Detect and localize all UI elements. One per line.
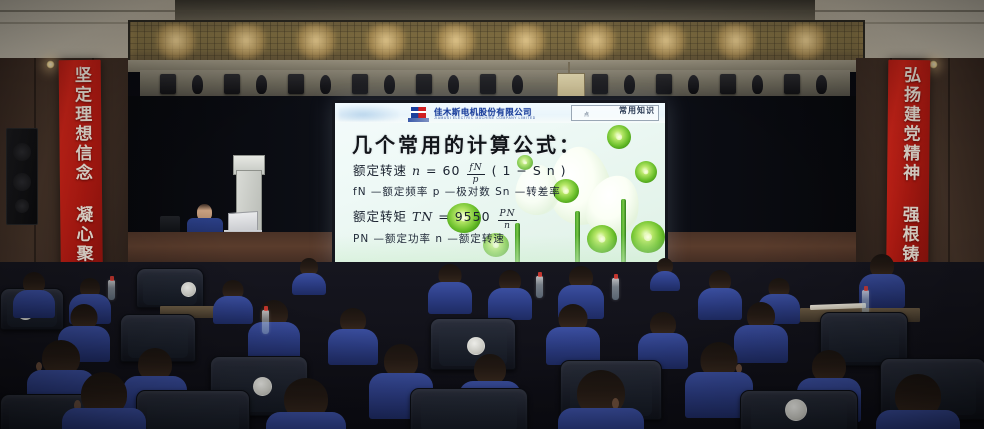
auditorium-seat — [740, 390, 858, 429]
audience-member — [650, 258, 680, 290]
corner-knowledge-label: 常用知识 — [619, 105, 655, 116]
formula-1-eq: = — [426, 163, 437, 178]
auditorium-seat — [136, 268, 204, 308]
seat-number-badge — [785, 399, 807, 421]
stage-light — [720, 74, 736, 94]
stage-light — [688, 75, 699, 94]
audience-member — [548, 304, 598, 360]
water-bottle — [536, 276, 543, 298]
formula-row-1: 额定转速 n = 60 fN p ( 1 − S n ) — [353, 160, 567, 185]
downlight — [46, 60, 55, 69]
audience-member — [14, 272, 54, 312]
cloud-watermark — [339, 105, 399, 121]
stage-light — [256, 75, 267, 94]
audience-member — [880, 374, 956, 429]
seat-number-badge — [181, 282, 196, 297]
stage-light — [480, 74, 496, 94]
auditorium-seat — [410, 388, 528, 429]
stage-light — [512, 75, 523, 94]
stage-light — [320, 75, 331, 94]
formula-1-numerator: fN — [467, 164, 484, 173]
formula-1-fraction: fN p — [467, 164, 484, 185]
audience-member — [270, 378, 342, 429]
audience-member — [490, 270, 530, 314]
chrysanthemum-decoration — [635, 161, 657, 183]
formula-2-denominator: n — [498, 222, 518, 231]
audience-member — [292, 258, 326, 292]
auditorium-seat — [136, 390, 250, 429]
formula-2-eq: = — [438, 209, 449, 224]
audience-member — [250, 300, 298, 354]
loudspeaker — [6, 128, 38, 225]
stage-light — [592, 74, 608, 94]
stage-light — [160, 74, 176, 94]
projection-screen: 佳木斯电机股份有限公司 JIAMUSI ELECTRIC MACHINE COM… — [335, 103, 665, 265]
stage-light — [448, 75, 459, 94]
stage-light — [752, 75, 763, 94]
seat-number-badge — [467, 337, 485, 355]
stage-light — [352, 74, 368, 94]
formula-1-lhs: n — [412, 163, 421, 178]
rig-control-box — [557, 73, 585, 97]
formula-legend-1: fN —额定频率 p —极对数 Sn —转差率 — [353, 184, 561, 199]
formula-1-coeff: 60 — [443, 163, 461, 178]
audience-member — [640, 312, 686, 364]
company-logo-underbar — [408, 118, 429, 122]
audience-area — [0, 262, 984, 429]
company-logo-icon — [411, 107, 426, 118]
water-bottle — [262, 310, 269, 334]
ceiling-seam — [0, 10, 984, 12]
formula-row-2: 额定转矩 TN = 9550 PN n — [353, 206, 519, 231]
stage-light — [624, 75, 635, 94]
water-bottle — [612, 278, 619, 300]
slide-title: 几个常用的计算公式： — [352, 129, 582, 158]
audience-member — [66, 372, 142, 429]
audience-member — [330, 308, 376, 360]
stage-light — [384, 75, 395, 94]
stage-light — [192, 75, 203, 94]
illuminated-valance — [128, 20, 865, 64]
formula-2-label: 额定转矩 — [353, 209, 407, 224]
formula-1-label: 额定转速 — [353, 163, 407, 178]
audience-member — [214, 280, 252, 318]
stage-light — [288, 74, 304, 94]
formula-1-tail: ( 1 − S n ) — [492, 163, 567, 178]
stage-light — [416, 74, 432, 94]
company-name-en: JIAMUSI ELECTRIC MACHINE COMPANY LIMITED — [434, 116, 536, 120]
formula-legend-2: PN —额定功率 n —额定转速 — [353, 231, 505, 246]
formula-2-fraction: PN n — [498, 210, 518, 231]
audience-member — [700, 270, 740, 314]
water-bottle — [108, 280, 115, 300]
audience-member — [430, 264, 470, 308]
formula-2-coeff: 9550 — [455, 209, 491, 224]
auditorium-scene: 坚定理想信念 凝心聚力开创新局 弘扬建党精神 强根铸魂奋进新征程 — [0, 0, 984, 429]
formula-2-numerator: PN — [498, 210, 518, 219]
stage-light — [224, 74, 240, 94]
water-bottle — [862, 290, 869, 314]
chrysanthemum-decoration — [607, 125, 631, 149]
stage-light — [816, 75, 827, 94]
stage-light — [784, 74, 800, 94]
projection-screen-frame: 佳木斯电机股份有限公司 JIAMUSI ELECTRIC MACHINE COM… — [332, 100, 668, 268]
formula-2-lhs: TN — [412, 209, 433, 224]
corner-knowledge-dot: 点 — [584, 111, 589, 118]
audience-member — [562, 370, 640, 429]
stage-light — [656, 74, 672, 94]
